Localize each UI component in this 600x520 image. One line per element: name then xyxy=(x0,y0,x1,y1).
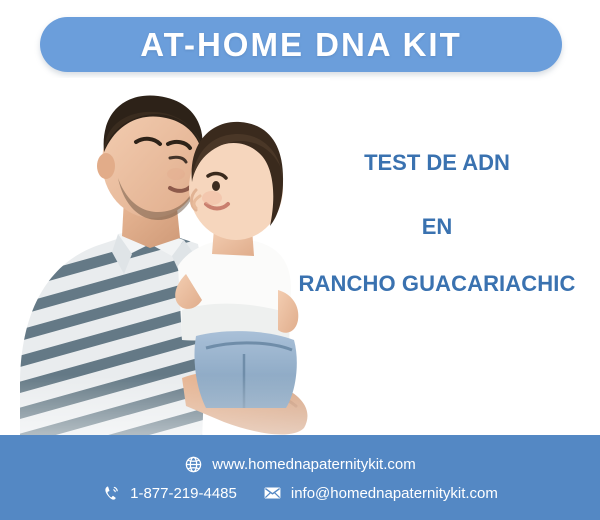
phone-icon xyxy=(102,484,121,503)
footer-website-row: www.homednapaternitykit.com xyxy=(184,455,415,474)
page-title: AT-HOME DNA KIT xyxy=(140,28,461,61)
envelope-icon xyxy=(263,484,282,503)
phone-item[interactable]: 1-877-219-4485 xyxy=(102,484,237,503)
title-banner: AT-HOME DNA KIT xyxy=(40,17,562,72)
headline-line-1: TEST DE ADN xyxy=(276,150,598,175)
footer-contact-bar: www.homednapaternitykit.com 1-877-219-44… xyxy=(0,435,600,520)
email-item[interactable]: info@homednapaternitykit.com xyxy=(263,484,498,503)
headline-line-2: EN xyxy=(276,214,598,239)
phone-label: 1-877-219-4485 xyxy=(130,486,237,501)
poster-canvas: AT-HOME DNA KIT xyxy=(0,0,600,520)
website-label: www.homednapaternitykit.com xyxy=(212,457,415,472)
headline-block: TEST DE ADN EN RANCHO GUACARIACHIC xyxy=(276,150,598,296)
footer-contact-row: 1-877-219-4485 info@homednapaternitykit.… xyxy=(102,484,498,503)
headline-line-3: RANCHO GUACARIACHIC xyxy=(276,271,598,296)
globe-icon xyxy=(184,455,203,474)
email-label: info@homednapaternitykit.com xyxy=(291,486,498,501)
website-item[interactable]: www.homednapaternitykit.com xyxy=(184,455,415,474)
